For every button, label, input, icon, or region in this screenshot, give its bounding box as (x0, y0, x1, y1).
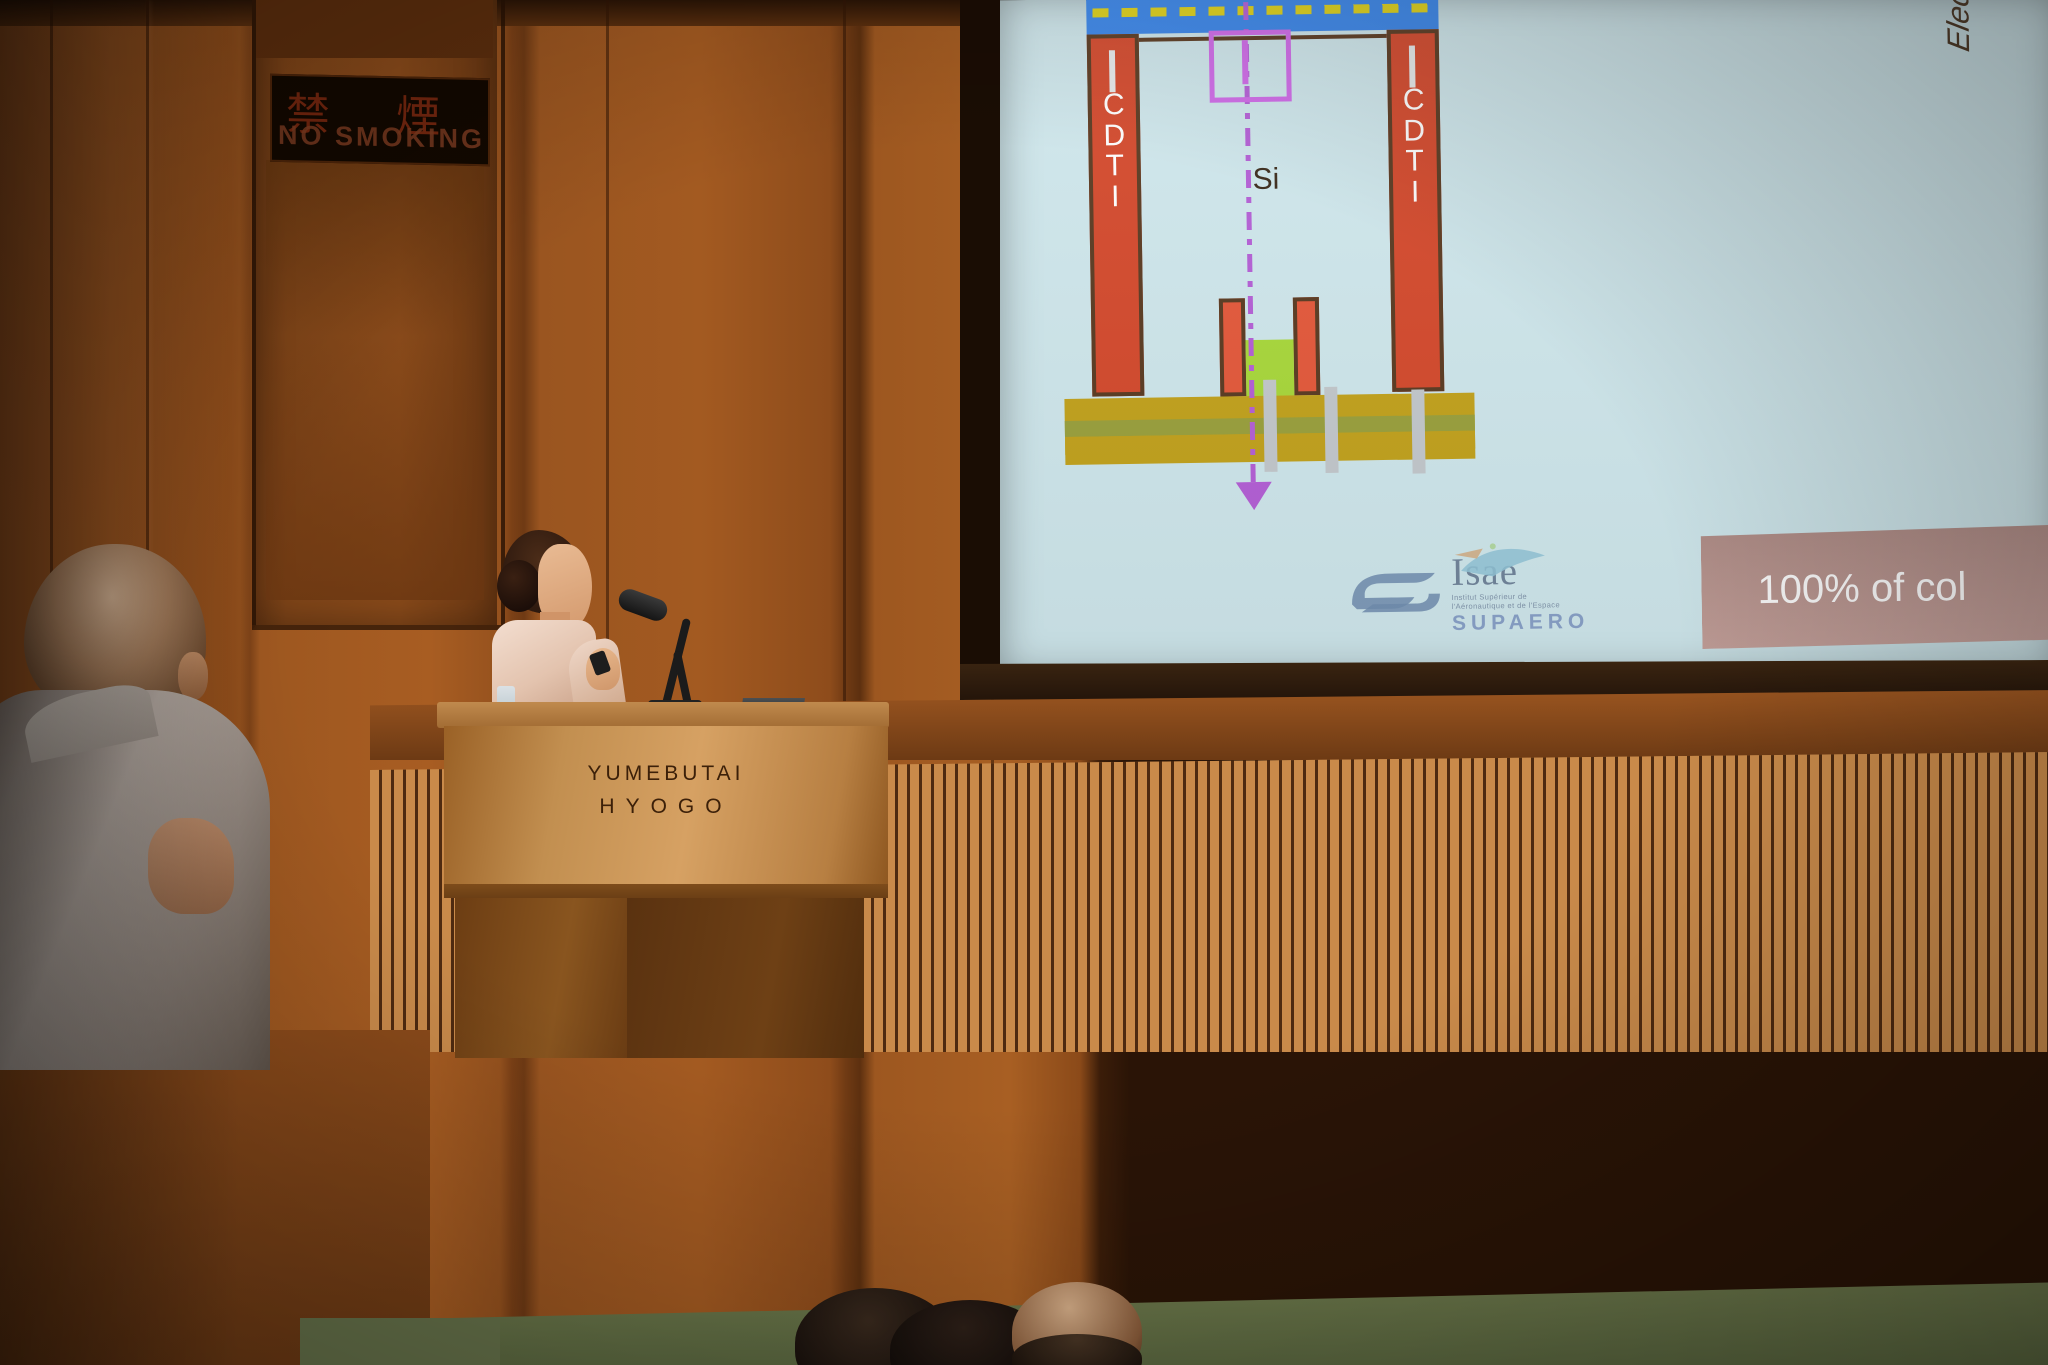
podium-engraving-line2: HYOGO (444, 795, 888, 819)
photo-scene: 禁 煙 NO SMOKING C D T I C D T I (0, 0, 2048, 1365)
no-smoking-sign: 禁 煙 NO SMOKING (270, 74, 490, 167)
ceiling-shadow-band (0, 0, 1100, 26)
screen-light-falloff (1000, 0, 2048, 676)
green-carpet-left (300, 1318, 500, 1365)
stage-floor-left (0, 1030, 430, 1365)
projection-screen: C D T I C D T I Si Electric field [V.cm-… (1000, 0, 2048, 676)
no-smoking-sign-english: NO SMOKING (278, 120, 490, 156)
podium-top-surface (437, 702, 889, 728)
speaker-hair-bun (497, 560, 541, 612)
foreground-person-hand (148, 818, 234, 914)
foreground-person-ear (178, 652, 208, 700)
podium-base-right (627, 898, 864, 1058)
podium-engraving-line1: YUMEBUTAI (444, 762, 888, 786)
podium-base-left (455, 898, 627, 1058)
podium-engraving: YUMEBUTAI HYOGO (444, 762, 888, 819)
podium-shadow-line (444, 884, 888, 898)
